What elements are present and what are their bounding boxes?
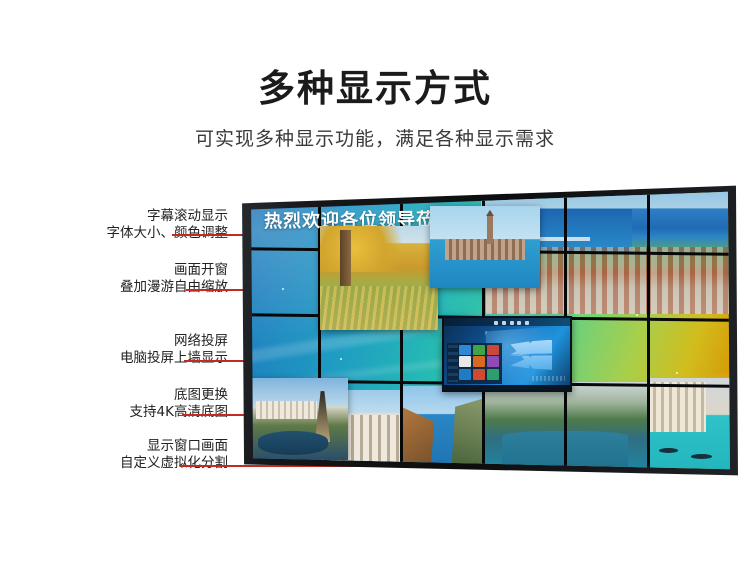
annotation-line-1: 底图更换 bbox=[174, 387, 228, 404]
palace-fountain-window[interactable] bbox=[250, 378, 348, 460]
tree-canopy bbox=[320, 226, 417, 272]
page-subtitle: 可实现多种显示功能，满足各种显示需求 bbox=[0, 124, 750, 151]
titlebar-icon bbox=[494, 321, 498, 325]
windows-desktop-window[interactable] bbox=[442, 316, 572, 392]
island-town bbox=[445, 239, 524, 260]
leaf-ground bbox=[320, 286, 438, 330]
annotation-line-1: 网络投屏 bbox=[174, 333, 228, 350]
start-tile[interactable] bbox=[459, 356, 471, 367]
start-menu-tiles[interactable] bbox=[459, 345, 500, 382]
gondola bbox=[659, 448, 678, 453]
monitor-stand-leg bbox=[547, 390, 560, 392]
start-tile[interactable] bbox=[473, 345, 485, 355]
titlebar-icon bbox=[517, 321, 521, 325]
start-menu-left-rail[interactable] bbox=[448, 345, 458, 382]
start-tile[interactable] bbox=[459, 369, 471, 380]
palazzo-facade bbox=[648, 382, 706, 432]
reflecting-pool bbox=[258, 431, 329, 456]
monitor-stand-leg bbox=[454, 390, 467, 392]
bell-tower bbox=[487, 216, 493, 244]
start-tile[interactable] bbox=[487, 345, 499, 355]
start-tile[interactable] bbox=[487, 356, 499, 367]
annotation-line-2: 叠加漫游自由缩放 bbox=[120, 279, 228, 296]
titlebar-icon bbox=[525, 321, 529, 325]
annotation-line-1: 显示窗口画面 bbox=[147, 438, 228, 455]
annotation-line-1: 画面开窗 bbox=[174, 262, 228, 279]
sparkle bbox=[676, 372, 678, 374]
start-tile[interactable] bbox=[459, 345, 471, 355]
palace-building bbox=[256, 401, 317, 419]
annotation-line-2: 电脑投屏上墙显示 bbox=[120, 350, 228, 367]
annotation-line-1: 字幕滚动显示 bbox=[147, 208, 228, 225]
start-tile[interactable] bbox=[487, 369, 499, 380]
page-title: 多种显示方式 bbox=[0, 58, 750, 112]
titlebar-icon bbox=[502, 321, 506, 325]
gondola bbox=[691, 454, 712, 459]
start-menu[interactable] bbox=[447, 343, 502, 385]
start-tile[interactable] bbox=[473, 356, 485, 367]
bezel-column-divider bbox=[647, 182, 650, 487]
video-wall[interactable]: 热烈欢迎各位领导莅临检查 bbox=[236, 182, 740, 487]
sparkle bbox=[282, 288, 284, 290]
poster-canvas: 多种显示方式 可实现多种显示功能，满足各种显示需求 字幕滚动显示 字体大小、颜色… bbox=[0, 0, 750, 571]
sparkle bbox=[636, 314, 638, 316]
desktop-watermark bbox=[532, 376, 565, 381]
window-titlebar bbox=[444, 318, 570, 326]
sparkle bbox=[340, 358, 342, 360]
autumn-tree-window[interactable] bbox=[320, 226, 438, 330]
island-church-window[interactable] bbox=[430, 206, 540, 288]
venice-canal-tile[interactable] bbox=[648, 378, 740, 474]
annotation-line-2: 自定义虚拟化分割 bbox=[120, 455, 228, 472]
titlebar-icon bbox=[510, 321, 514, 325]
video-wall-display-area: 热烈欢迎各位领导莅临检查 bbox=[236, 182, 740, 487]
start-tile[interactable] bbox=[473, 369, 485, 380]
annotation-line-2: 支持4K高清底图 bbox=[130, 404, 228, 421]
